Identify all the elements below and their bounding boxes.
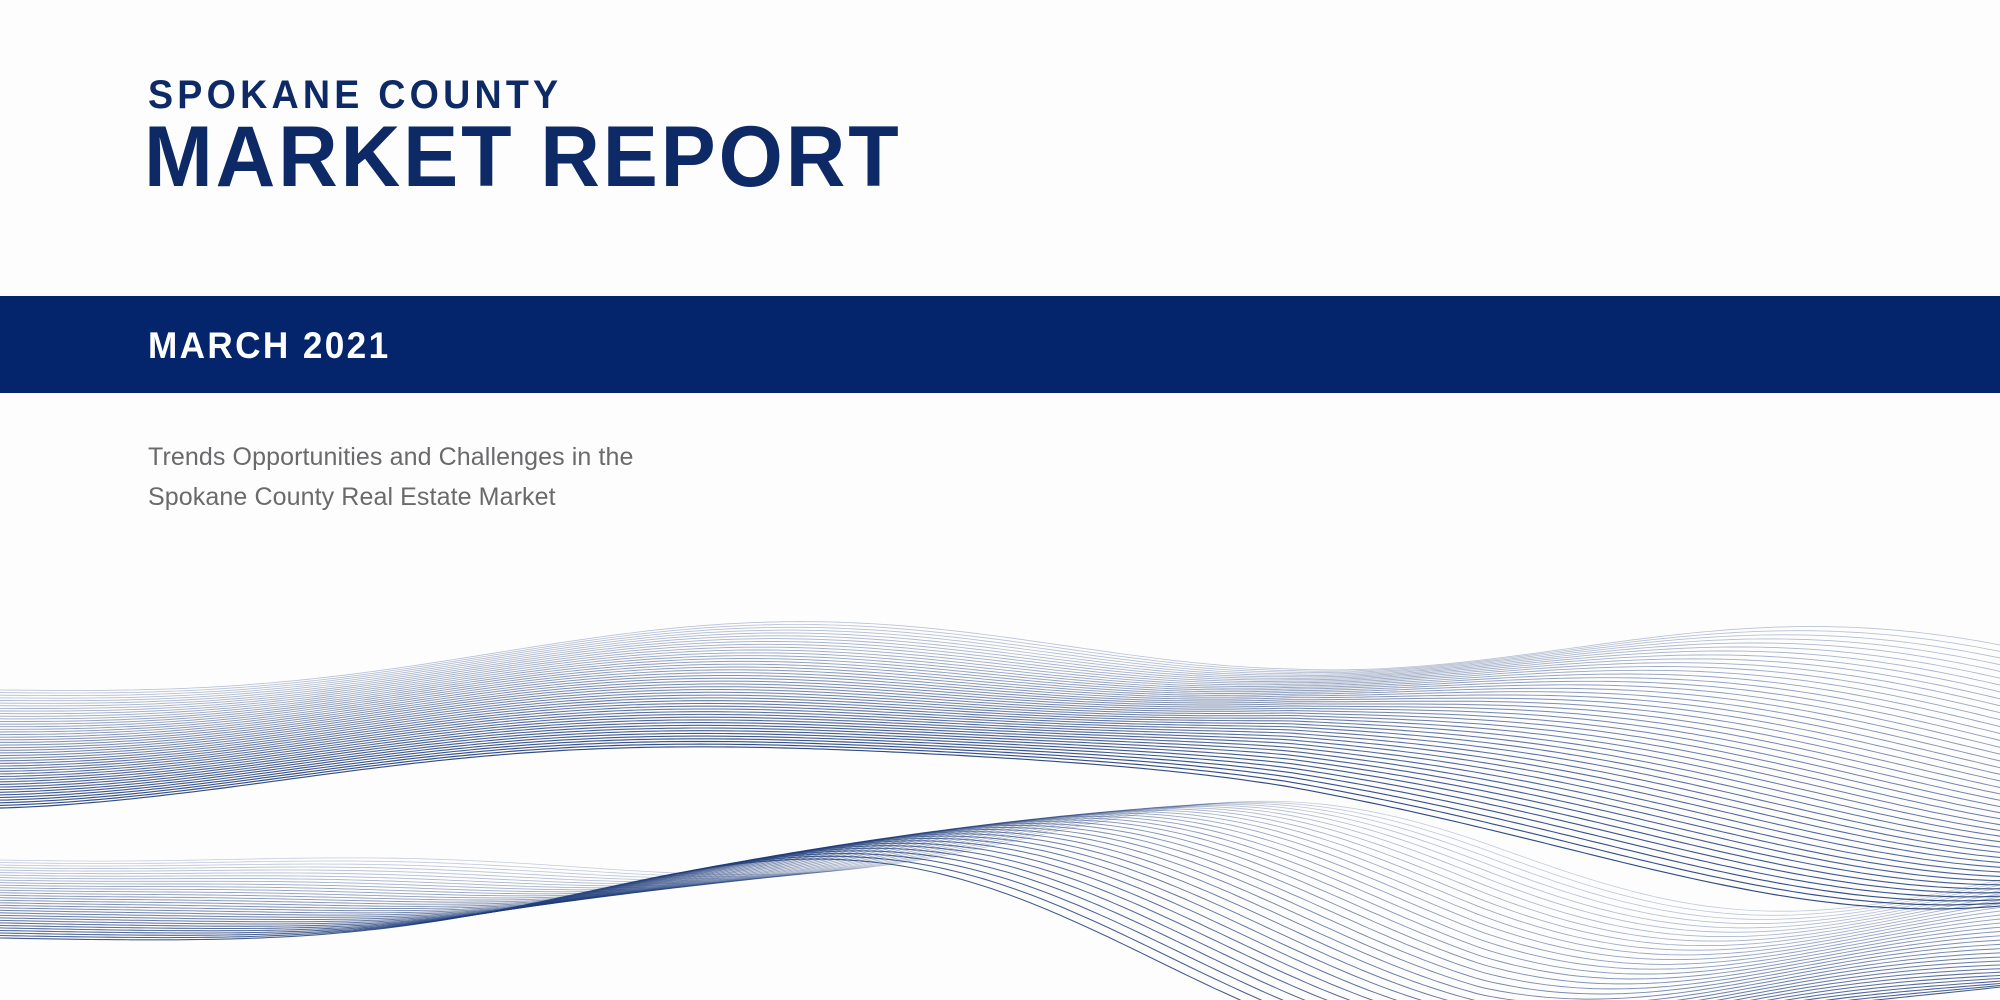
wave-line — [0, 801, 2000, 911]
subtitle-line-1: Trends Opportunities and Challenges in t… — [148, 437, 634, 477]
wave-line — [0, 627, 2000, 695]
wave-line — [0, 653, 2000, 720]
wave-line — [0, 644, 2000, 711]
wave-line — [0, 830, 2000, 1000]
wave-line — [0, 714, 2000, 857]
wave-line — [0, 841, 2000, 1000]
wave-line — [0, 661, 2000, 740]
wave-line — [0, 695, 2000, 819]
wave-line — [0, 678, 2000, 781]
wave-line — [0, 810, 2000, 945]
date-band-label: MARCH 2021 — [148, 327, 391, 364]
wave-line — [0, 633, 2000, 701]
wave-line — [0, 834, 2000, 1000]
wave-line — [0, 731, 2000, 885]
wave-line — [0, 809, 2000, 941]
wave-line — [0, 806, 2000, 932]
report-cover-page: SPOKANE COUNTY MARKET REPORT MARCH 2021 … — [0, 0, 2000, 1000]
wave-line — [0, 642, 2000, 709]
wave-line — [0, 636, 2000, 704]
wave-line — [0, 805, 2000, 928]
wave-line — [0, 822, 2000, 979]
wave-line — [0, 630, 2000, 698]
wave-line — [0, 742, 2000, 901]
wave-line — [0, 812, 2000, 951]
wave-line — [0, 712, 2000, 853]
wave-line — [0, 856, 2000, 1000]
wave-line — [0, 802, 2000, 915]
wave-line — [0, 739, 2000, 897]
wave-line — [0, 687, 2000, 801]
wave-line — [0, 747, 2000, 909]
wave-line — [0, 851, 2000, 1000]
wave-line — [0, 684, 2000, 794]
wave-line — [0, 676, 2000, 775]
wave-line — [0, 701, 2000, 831]
wave-line — [0, 622, 2000, 691]
wave-line — [0, 815, 2000, 960]
wave-line — [0, 681, 2000, 787]
subtitle: Trends Opportunities and Challenges in t… — [148, 437, 634, 517]
wave-line — [0, 859, 2000, 1000]
page-title: MARKET REPORT — [144, 114, 902, 200]
wave-line — [0, 828, 2000, 995]
wave-line — [0, 659, 2000, 734]
wave-line — [0, 692, 2000, 812]
wave-line — [0, 818, 2000, 969]
wave-line — [0, 744, 2000, 905]
wave-line — [0, 720, 2000, 867]
wave-line — [0, 824, 2000, 984]
wave-line — [0, 706, 2000, 842]
wave-line — [0, 736, 2000, 893]
wave-line — [0, 836, 2000, 1000]
wave-line — [0, 717, 2000, 862]
wave-line — [0, 647, 2000, 714]
wave-line — [0, 728, 2000, 881]
wave-line — [0, 725, 2000, 876]
wave-line — [0, 803, 2000, 919]
wave-line — [0, 639, 2000, 706]
wave-line — [0, 808, 2000, 937]
date-band: MARCH 2021 — [0, 296, 2000, 393]
wave-line — [0, 670, 2000, 761]
wave-line — [0, 846, 2000, 1000]
wave-line — [0, 723, 2000, 872]
wave-line — [0, 820, 2000, 974]
wave-line — [0, 625, 2000, 694]
wave-line — [0, 690, 2000, 807]
subtitle-line-2: Spokane County Real Estate Market — [148, 477, 634, 517]
wave-line — [0, 733, 2000, 888]
wave-line — [0, 804, 2000, 924]
wave-line — [0, 826, 2000, 989]
wave-line — [0, 816, 2000, 964]
wave-line — [0, 656, 2000, 727]
wave-line — [0, 813, 2000, 955]
wave-line — [0, 838, 2000, 1000]
wave-line — [0, 650, 2000, 716]
wave-line — [0, 843, 2000, 1000]
wave-line — [0, 854, 2000, 1000]
wave-line — [0, 673, 2000, 768]
wave-line — [0, 698, 2000, 825]
wave-line — [0, 709, 2000, 847]
wave-line — [0, 667, 2000, 754]
wave-line — [0, 848, 2000, 1000]
wave-line — [0, 832, 2000, 1000]
wave-line — [0, 664, 2000, 747]
wave-line — [0, 703, 2000, 836]
